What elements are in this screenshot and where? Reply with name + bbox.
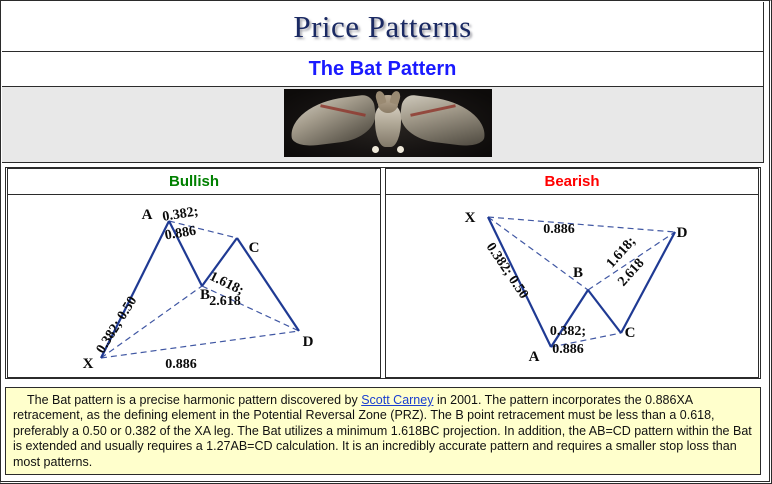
- banner-cell: [2, 87, 764, 163]
- description-paragraph: The Bat pattern is a precise harmonic pa…: [13, 393, 753, 470]
- solid-leg-B-C: [588, 290, 621, 333]
- point-label-D: D: [677, 225, 688, 241]
- bat-left-ear-shape: [374, 90, 386, 105]
- point-label-A: A: [529, 349, 540, 365]
- point-label-X: X: [83, 356, 94, 372]
- point-label-C: C: [249, 240, 260, 256]
- point-label-B: B: [573, 265, 583, 281]
- point-label-A: A: [142, 207, 153, 223]
- bullish-pattern-chart: 0.382;0.8860.382; 0.501.618;2.6180.886XA…: [8, 195, 380, 377]
- ratio-label-2: 0.382; 0.50: [94, 294, 141, 356]
- bat-right-wing-shape: [398, 94, 489, 148]
- description-text-part1: The Bat pattern is a precise harmonic pa…: [27, 393, 361, 407]
- dashed-leg-X-D: [101, 331, 299, 358]
- bearish-pattern-chart: 0.8860.382; 0.501.618;2.6180.382;0.886XA…: [386, 195, 758, 377]
- subtitle-cell: The Bat Pattern: [2, 52, 764, 87]
- bat-left-foot-shape: [372, 146, 379, 153]
- ratio-label-4: 0.382;: [550, 324, 586, 339]
- bearish-panel: Bearish 0.8860.382; 0.501.618;2.6180.382…: [385, 168, 759, 378]
- bat-photo-image: [284, 89, 492, 157]
- bearish-label: Bearish: [544, 173, 599, 190]
- ratio-label-5: 0.886: [552, 342, 584, 357]
- ratio-label-0: 0.886: [543, 222, 575, 237]
- bearish-header: Bearish: [386, 169, 758, 195]
- point-label-B: B: [200, 287, 210, 303]
- ratio-label-1: 0.886: [164, 224, 197, 244]
- bullish-diagram-body: 0.382;0.8860.382; 0.501.618;2.6180.886XA…: [8, 195, 380, 377]
- dashed-leg-X-D: [488, 217, 675, 232]
- bearish-diagram-body: 0.8860.382; 0.501.618;2.6180.382;0.886XA…: [386, 195, 758, 377]
- bullish-panel: Bullish 0.382;0.8860.382; 0.501.618;2.61…: [7, 168, 381, 378]
- bullish-header: Bullish: [8, 169, 380, 195]
- point-label-C: C: [625, 325, 636, 341]
- ratio-label-5: 0.886: [165, 357, 197, 372]
- pattern-subtitle: The Bat Pattern: [309, 58, 457, 81]
- bat-left-wing-shape: [288, 94, 379, 148]
- page-title: Price Patterns: [293, 9, 471, 45]
- point-label-D: D: [303, 334, 314, 350]
- bat-right-foot-shape: [397, 146, 404, 153]
- point-label-X: X: [465, 210, 476, 226]
- bullish-label: Bullish: [169, 173, 219, 190]
- diagram-table: Bullish 0.382;0.8860.382; 0.501.618;2.61…: [5, 167, 761, 379]
- description-box: The Bat pattern is a precise harmonic pa…: [5, 387, 761, 475]
- title-cell: Price Patterns: [2, 2, 764, 52]
- ratio-label-1: 0.382; 0.50: [483, 240, 531, 302]
- scott-carney-link[interactable]: Scott Carney: [361, 393, 433, 407]
- page-frame: Price Patterns The Bat Pattern Bullish 0…: [0, 0, 772, 484]
- bat-right-ear-shape: [389, 90, 401, 105]
- ratio-label-0: 0.382;: [161, 204, 199, 224]
- ratio-label-4: 2.618: [209, 294, 241, 309]
